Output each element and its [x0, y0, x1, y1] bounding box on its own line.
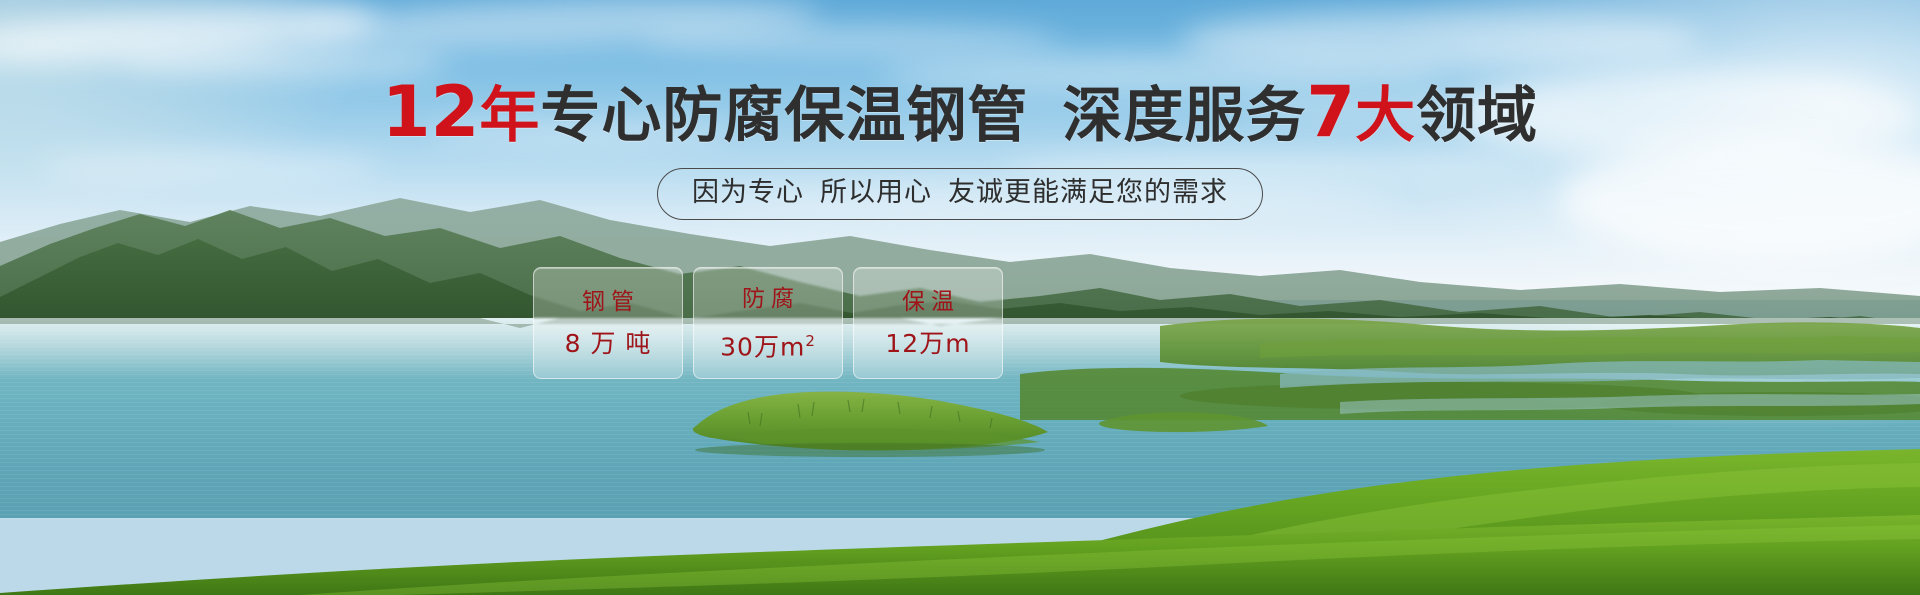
banner-headline: 12年专心防腐保温钢管深度服务7大领域 [0, 80, 1920, 148]
stat-value-text: 30万m [720, 332, 805, 361]
subtitle-part-3: 友诚更能满足您的需求 [948, 177, 1228, 208]
stat-cards-group: 钢管 8 万 吨 防腐 30万m2 保温 12万m [533, 267, 1003, 379]
banner-subtitle-wrapper: 因为专心所以用心友诚更能满足您的需求 [0, 168, 1920, 220]
stat-card-value: 8 万 吨 [565, 329, 652, 359]
stat-value-superscript: 2 [805, 332, 816, 350]
headline-fields-number: 7 [1306, 71, 1355, 153]
subtitle-part-2: 所以用心 [820, 177, 932, 208]
stat-card-steel-pipe: 钢管 8 万 吨 [533, 267, 683, 379]
headline-main-text: 专心防腐保温钢管 [540, 81, 1028, 151]
headline-years-unit: 年 [479, 81, 540, 151]
stat-card-title: 保温 [896, 287, 960, 317]
banner-subtitle-pill: 因为专心所以用心友诚更能满足您的需求 [657, 168, 1263, 220]
headline-fields-unit: 大 [1355, 81, 1416, 151]
headline-fields-text: 领域 [1416, 81, 1538, 151]
stat-card-value: 12万m [885, 329, 970, 359]
headline-service-text: 深度服务 [1062, 81, 1306, 151]
stat-card-insulation: 保温 12万m [853, 267, 1003, 379]
stat-card-title: 防腐 [736, 284, 800, 314]
stat-card-anticorrosion: 防腐 30万m2 [693, 267, 843, 379]
stat-value-text: 12万m [885, 329, 970, 358]
stat-card-value: 30万m2 [720, 326, 816, 362]
stat-value-text: 8 万 吨 [565, 329, 652, 358]
promotional-banner: 12年专心防腐保温钢管深度服务7大领域 因为专心所以用心友诚更能满足您的需求 钢… [0, 0, 1920, 595]
banner-content: 12年专心防腐保温钢管深度服务7大领域 因为专心所以用心友诚更能满足您的需求 钢… [0, 0, 1920, 595]
subtitle-part-1: 因为专心 [692, 177, 804, 208]
headline-years-number: 12 [382, 71, 479, 153]
stat-card-title: 钢管 [576, 287, 640, 317]
